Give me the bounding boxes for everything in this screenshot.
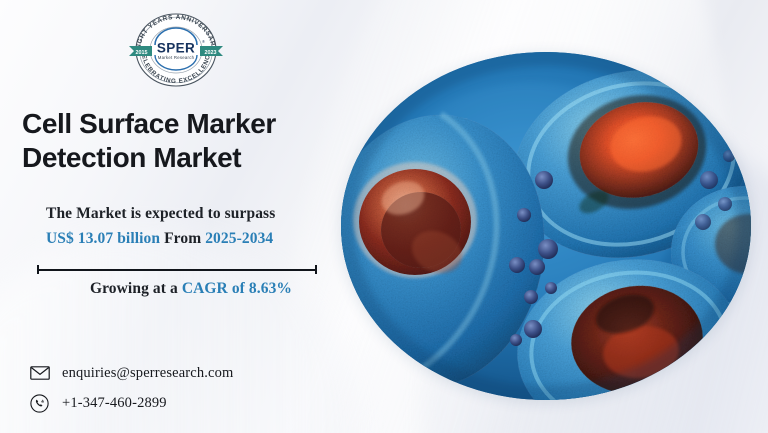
market-value-period: 2025-2034 — [205, 230, 273, 247]
logo-year-left: 2015 — [136, 50, 148, 56]
page-title: Cell Surface Marker Detection Market — [22, 107, 342, 175]
envelope-icon — [30, 366, 56, 380]
cell-microscopy-svg — [341, 52, 751, 400]
logo-brand-text: SPER — [157, 41, 195, 56]
logo-tagline-text: Market Research — [158, 55, 195, 60]
sper-logo-svg: EIGHT YEARS ANNIVERSARY CELEBRATING EXCE… — [124, 10, 228, 88]
market-value-mid: From — [160, 230, 205, 247]
market-value-statement: The Market is expected to surpass US$ 13… — [46, 201, 346, 251]
marketing-banner: EIGHT YEARS ANNIVERSARY CELEBRATING EXCE… — [0, 0, 768, 433]
hero-image-cell-microscopy — [341, 52, 751, 400]
phone-icon — [30, 394, 56, 413]
divider-bar — [37, 269, 317, 271]
cagr-statement: Growing at a CAGR of 8.63% — [46, 280, 336, 298]
logo-ribbon-left: 2015 — [129, 46, 152, 56]
logo-year-right: 2023 — [205, 50, 217, 56]
sper-logo: EIGHT YEARS ANNIVERSARY CELEBRATING EXCE… — [124, 10, 228, 88]
contact-email-text: enquiries@sperresearch.com — [62, 365, 233, 382]
contact-phone-text: +1-347-460-2899 — [62, 395, 167, 412]
logo-registered-icon: ® — [202, 39, 205, 44]
contact-phone-row[interactable]: +1-347-460-2899 — [30, 388, 233, 418]
divider — [37, 265, 317, 274]
logo-ribbon-right: 2023 — [200, 46, 223, 56]
market-value-prefix: The Market is expected to surpass — [46, 205, 275, 222]
contact-block: enquiries@sperresearch.com +1-347-460-28… — [30, 358, 233, 418]
divider-cap-right — [315, 265, 317, 274]
cagr-prefix: Growing at a — [90, 280, 182, 297]
cagr-value: CAGR of 8.63% — [182, 280, 292, 297]
contact-email-row[interactable]: enquiries@sperresearch.com — [30, 358, 233, 388]
market-value-amount: US$ 13.07 billion — [46, 230, 160, 247]
